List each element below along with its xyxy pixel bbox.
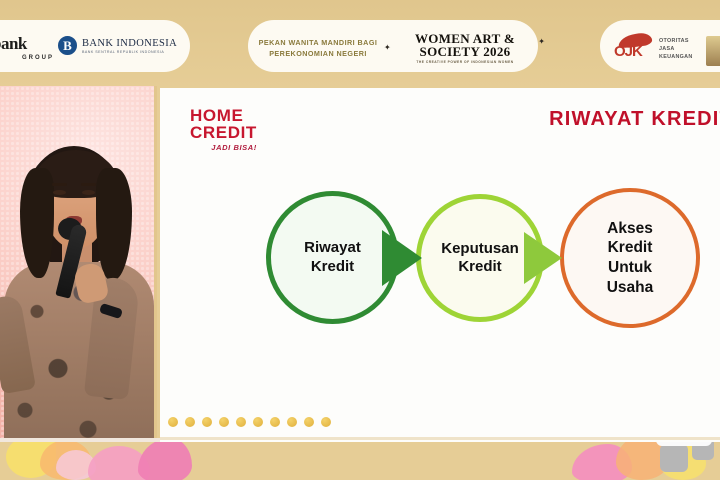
ojk-logo: OJK OTORITAS JASA KEUANGAN (614, 34, 693, 64)
speaker-video-feed (0, 86, 157, 446)
home-credit-logo: HOME CREDIT JADI BISA! (190, 108, 257, 152)
slide-footer-dot (321, 417, 331, 427)
ojk-wordmark: OJK (614, 43, 642, 60)
slide-footer-dot (219, 417, 229, 427)
speaker-figure (4, 128, 154, 446)
ojk-name-line2: JASA (659, 45, 693, 53)
event-logo: ✦ ✦ WOMEN ART & SOCIETY 2026 THE CREATIV… (392, 32, 538, 65)
decor-grey-block-1 (660, 444, 688, 472)
slide-footer-dot (202, 417, 212, 427)
flow-node-label: KeputusanKredit (441, 240, 519, 277)
bank-indonesia-text: BANK INDONESIA BANK SENTRAL REPUBLIK IND… (82, 38, 177, 54)
slide-footer-dot (287, 417, 297, 427)
star-icon-right: ✦ (538, 38, 545, 46)
event-logo-line2: SOCIETY 2026 (392, 45, 538, 58)
speaker-hair-right (96, 168, 132, 280)
sponsor-logo-cropped (706, 36, 720, 66)
slide-footer-dot (270, 417, 280, 427)
flow-node-label: RiwayatKredit (304, 239, 361, 276)
presentation-slide: HOME CREDIT JADI BISA! RIWAYAT KREDIT Ri… (160, 88, 720, 444)
home-credit-tagline: JADI BISA! (190, 143, 257, 152)
speaker-hair-left (20, 168, 54, 278)
speaker-eyebrow-right (81, 183, 96, 186)
event-tagline-line1: PEKAN WANITA MANDIRI BAGI (248, 37, 388, 48)
slide-footer-dot (253, 417, 263, 427)
slide-footer-dot (236, 417, 246, 427)
stage-backdrop: bank GROUP B BANK INDONESIA BANK SENTRAL… (0, 0, 720, 480)
bank-indonesia-name: BANK INDONESIA (82, 38, 177, 49)
flow-arrow-2-icon (524, 232, 562, 284)
flow-node-riwayat-kredit: RiwayatKredit (266, 191, 399, 324)
event-tagline: PEKAN WANITA MANDIRI BAGI PEREKONOMIAN N… (248, 37, 388, 59)
maybank-wordmark: bank (0, 34, 54, 54)
decor-petal-magenta-left (138, 442, 192, 480)
slide-footer-line (160, 437, 720, 440)
flow-node-label: AksesKreditUntukUsaha (607, 219, 654, 297)
slide-footer-dots (160, 414, 720, 430)
home-credit-line2: CREDIT (190, 125, 257, 142)
slide-title: RIWAYAT KREDIT (549, 108, 720, 131)
star-icon-left: ✦ (384, 44, 391, 52)
ojk-name-line1: OTORITAS (659, 37, 693, 45)
credit-flow-diagram: RiwayatKredit KeputusanKredit AksesKredi… (160, 192, 720, 342)
ojk-name: OTORITAS JASA KEUANGAN (659, 37, 693, 61)
event-logo-subtitle: THE CREATIVE POWER OF INDONESIAN WOMEN (392, 60, 538, 64)
bank-indonesia-subtitle: BANK SENTRAL REPUBLIK INDONESIA (82, 50, 177, 54)
flow-node-akses-kredit-usaha: AksesKreditUntukUsaha (560, 188, 700, 328)
event-logo-line1: WOMEN ART & (392, 32, 538, 45)
bank-indonesia-logo: B BANK INDONESIA BANK SENTRAL REPUBLIK I… (58, 36, 177, 55)
stage-decoration-band (0, 442, 720, 480)
slide-footer-dot (168, 417, 178, 427)
speaker-eye-right (82, 190, 95, 195)
slide-footer-dot (304, 417, 314, 427)
event-banner: bank GROUP B BANK INDONESIA BANK SENTRAL… (0, 0, 720, 88)
ojk-name-line3: KEUANGAN (659, 53, 693, 61)
maybank-group-logo: bank GROUP (0, 34, 54, 62)
speaker-eye-left (53, 190, 66, 195)
ojk-mark-icon: OJK (614, 34, 654, 64)
flow-arrow-1-icon (382, 230, 422, 286)
decor-white-shape (656, 442, 712, 446)
maybank-sub: GROUP (0, 55, 54, 61)
bank-indonesia-mark-icon: B (58, 36, 77, 55)
event-lockup: PEKAN WANITA MANDIRI BAGI PEREKONOMIAN N… (248, 30, 538, 66)
speaker-eyebrow-left (52, 183, 67, 186)
slide-footer-dot (185, 417, 195, 427)
event-tagline-line2: PEREKONOMIAN NEGERI (248, 48, 388, 59)
